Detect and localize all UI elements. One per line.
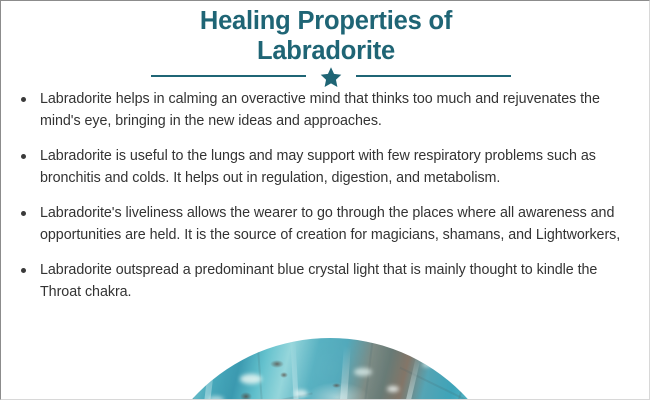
list-item-text: Labradorite's liveliness allows the wear… <box>40 205 620 243</box>
bullet-dot-icon <box>21 154 26 159</box>
list-item-text: Labradorite helps in calming an overacti… <box>40 91 600 129</box>
list-item-text: Labradorite is useful to the lungs and m… <box>40 148 596 186</box>
healing-properties-list: Labradorite helps in calming an overacti… <box>15 89 637 317</box>
labradorite-stone-surface <box>144 338 516 400</box>
bullet-dot-icon <box>21 268 26 273</box>
list-item: Labradorite is useful to the lungs and m… <box>15 146 637 189</box>
page-title: Healing Properties of Labradorite <box>1 6 650 66</box>
list-item: Labradorite outspread a predominant blue… <box>15 260 637 303</box>
bullet-dot-icon <box>21 97 26 102</box>
document-page: Healing Properties of Labradorite Labrad… <box>0 0 650 400</box>
divider-rule-left <box>151 75 306 77</box>
labradorite-stone-photo <box>144 338 516 400</box>
stone-shading-overlay <box>144 338 516 400</box>
title-divider <box>151 66 511 86</box>
list-item: Labradorite's liveliness allows the wear… <box>15 203 637 246</box>
list-item: Labradorite helps in calming an overacti… <box>15 89 637 132</box>
list-item-text: Labradorite outspread a predominant blue… <box>40 262 597 300</box>
page-title-line-2: Labradorite <box>1 36 650 66</box>
star-icon <box>319 66 343 88</box>
page-title-line-1: Healing Properties of <box>1 6 650 36</box>
divider-rule-right <box>356 75 511 77</box>
bullet-dot-icon <box>21 211 26 216</box>
